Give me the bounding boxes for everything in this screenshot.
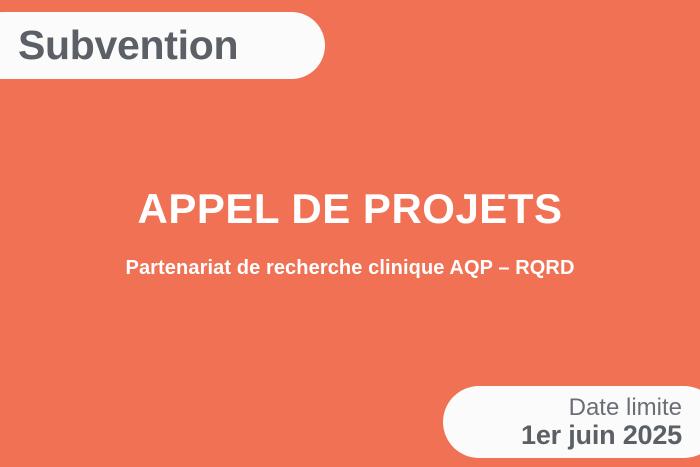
deadline-badge: Date limite 1er juin 2025 bbox=[443, 386, 700, 458]
deadline-label: Date limite bbox=[569, 395, 682, 420]
poster-canvas: Subvention APPEL DE PROJETS Partenariat … bbox=[0, 0, 700, 467]
headline-block: APPEL DE PROJETS Partenariat de recherch… bbox=[0, 186, 700, 280]
deadline-value: 1er juin 2025 bbox=[521, 421, 682, 449]
page-subtitle: Partenariat de recherche clinique AQP – … bbox=[0, 256, 700, 280]
category-badge: Subvention bbox=[0, 12, 325, 79]
page-title: APPEL DE PROJETS bbox=[0, 186, 700, 232]
category-badge-label: Subvention bbox=[18, 25, 238, 66]
